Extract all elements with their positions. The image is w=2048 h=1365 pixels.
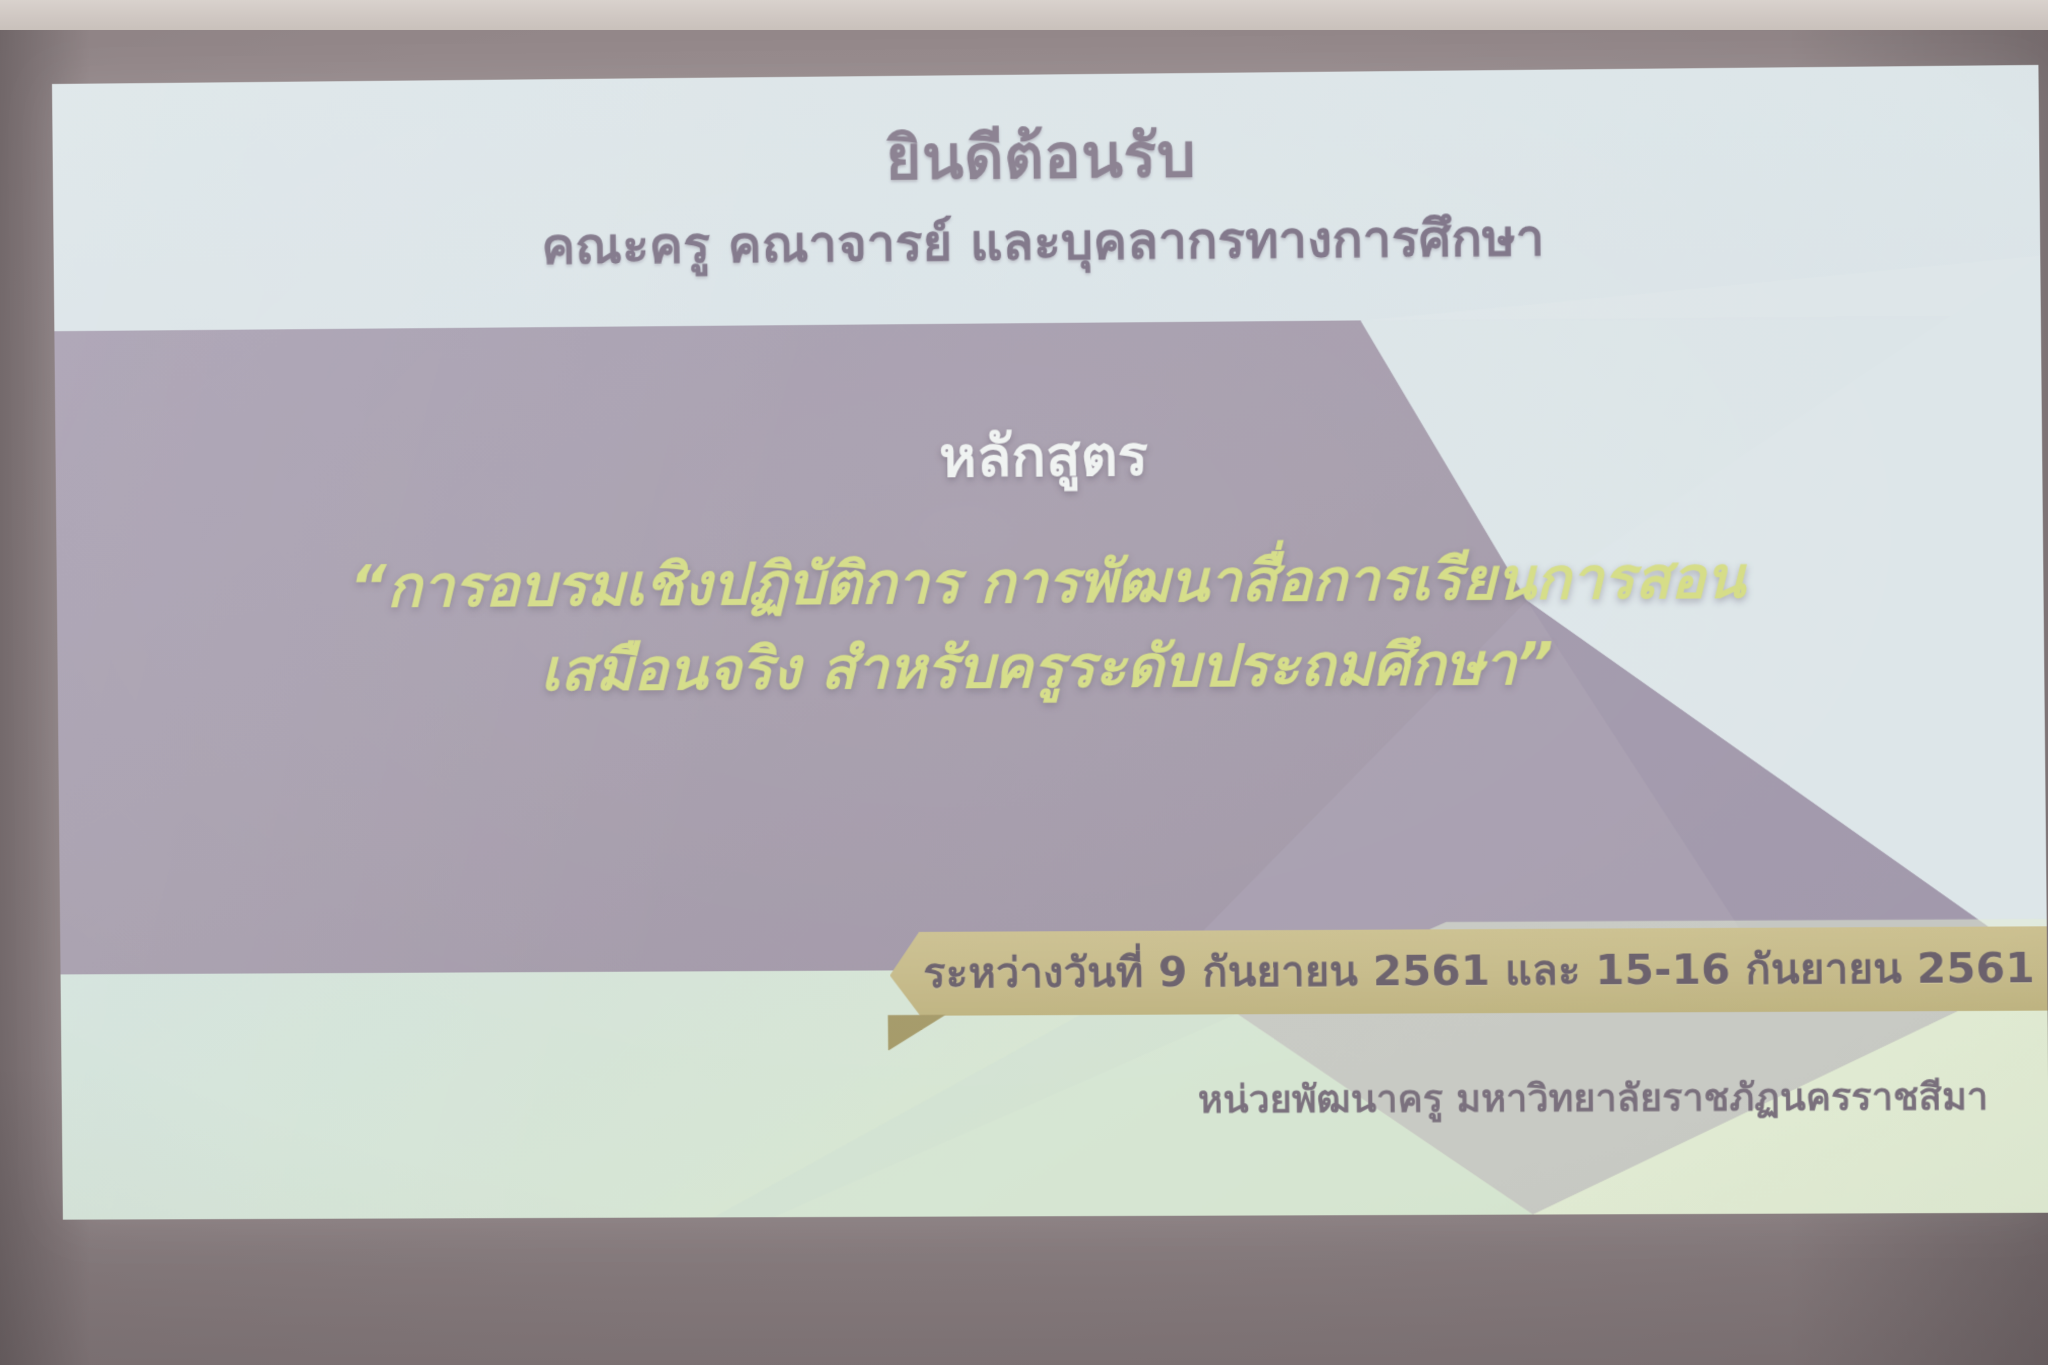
course-title-line-1: “การอบรมเชิงปฏิบัติการ การพัฒนาสื่อการเร… xyxy=(96,534,2004,632)
projected-slide: ยินดีต้อนรับ คณะครู คณาจารย์ และบุคลากรท… xyxy=(52,65,2048,1220)
slide-canvas: ยินดีต้อนรับ คณะครู คณาจารย์ และบุคลากรท… xyxy=(52,65,2048,1220)
date-ribbon-text: ระหว่างวันที่ 9 กันยายน 2561 และ 15-16 ก… xyxy=(889,926,2048,1016)
welcome-subheading: คณะครู คณาจารย์ และบุคลากรทางการศึกษา xyxy=(53,193,2040,290)
date-ribbon: ระหว่างวันที่ 9 กันยายน 2561 และ 15-16 ก… xyxy=(889,926,2048,1016)
course-label: หลักสูตร xyxy=(55,404,2042,509)
course-title: “การอบรมเชิงปฏิบัติการ การพัฒนาสื่อการเร… xyxy=(96,534,2005,717)
organizer-text: หน่วยพัฒนาครู มหาวิทยาลัยราชภัฏนครราชสีม… xyxy=(1198,1067,1989,1130)
course-title-line-2: เสมือนจริง สำหรับครูระดับประถมศึกษา” xyxy=(97,619,2005,716)
screenshot-stage: ยินดีต้อนรับ คณะครู คณาจารย์ และบุคลากรท… xyxy=(0,0,2048,1365)
